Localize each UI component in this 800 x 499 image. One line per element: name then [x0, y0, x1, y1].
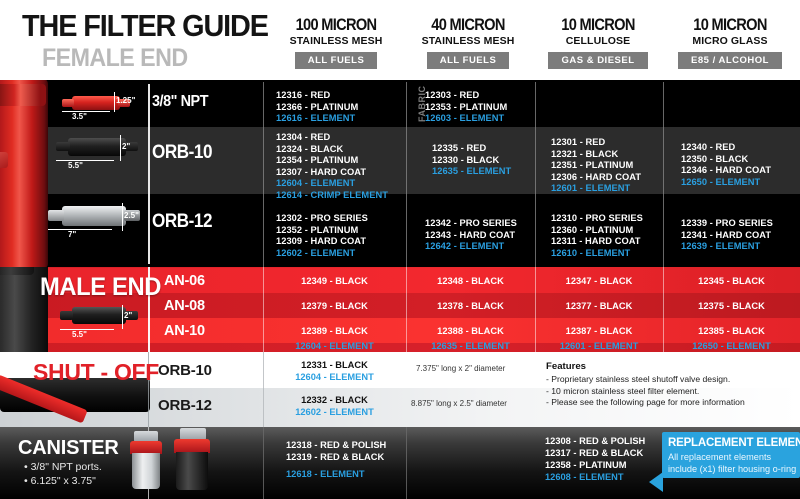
part-number-element: 12601 - ELEMENT: [551, 183, 641, 195]
part-number: 12348 - BLACK: [406, 276, 535, 286]
dimension-diameter: 1.25": [116, 96, 135, 105]
part-number: 12335 - RED: [432, 143, 511, 155]
part-number: 12330 - BLACK: [432, 155, 511, 167]
page-title: THE FILTER GUIDE: [22, 8, 268, 44]
part-list: 12310 - PRO SERIES 12360 - PLATINUM 1231…: [551, 213, 643, 259]
part-number: 12342 - PRO SERIES: [425, 218, 517, 230]
part-number: 12318 - RED & POLISH: [286, 439, 386, 451]
dimension-length: 5.5": [72, 330, 87, 339]
divider: [148, 84, 150, 264]
part-number: 12346 - HARD COAT: [681, 165, 771, 177]
dimension-line: [122, 305, 123, 329]
callout-line-1: All replacement elements: [668, 452, 794, 464]
column-fuel-tag: ALL FUELS: [295, 52, 378, 69]
part-number: 12321 - BLACK: [551, 149, 641, 161]
part-number-element: 12610 - ELEMENT: [551, 248, 643, 260]
part-number-element: 12650 - ELEMENT: [681, 177, 771, 189]
part-list: 12332 - BLACK 12602 - ELEMENT: [263, 395, 406, 418]
canister-specs: • 3/8" NPT ports. • 6.125" x 3.75": [24, 460, 102, 488]
section-title-male-end: MALE END: [40, 273, 161, 302]
part-number: 12375 - BLACK: [663, 301, 800, 311]
filter-guide-page: THE FILTER GUIDE FEMALE END 100 MICRON S…: [0, 0, 800, 499]
part-number-element: 12618 - ELEMENT: [286, 468, 386, 480]
column-micron-label: 10 MICRON: [542, 16, 654, 34]
part-number-element: 12635 - ELEMENT: [432, 166, 511, 178]
part-number-element: 12635 - ELEMENT: [406, 341, 535, 351]
features-heading: Features: [546, 361, 586, 372]
part-number: 12352 - PLATINUM: [276, 225, 368, 237]
dimension-line: [114, 92, 115, 112]
female-end-section: 3.5" 1.25" 3/8" NPT 12316 - RED 12366 - …: [0, 80, 800, 267]
canister-section: CANISTER • 3/8" NPT ports. • 6.125" x 3.…: [0, 427, 800, 499]
shut-off-section: SHUT - OFF ORB-10 ORB-12 12331 - BLACK 1…: [0, 352, 800, 427]
part-number-element: 12604 - ELEMENT: [263, 372, 406, 384]
shutoff-dimension-orb12: 8.875" long x 2.5" diameter: [411, 399, 507, 408]
part-number: 12307 - HARD COAT: [276, 167, 388, 179]
part-number: 12366 - PLATINUM: [276, 102, 358, 114]
replacement-elements-callout: REPLACEMENT ELEMENTS All replacement ele…: [662, 432, 800, 478]
part-number-element: 12601 - ELEMENT: [535, 341, 663, 351]
red-filter-housing-image: [0, 80, 48, 267]
feature-item: - 10 micron stainless steel filter eleme…: [546, 386, 745, 398]
part-number: 12308 - RED & POLISH: [545, 435, 645, 447]
feature-item: - Please see the following page for more…: [546, 397, 745, 409]
dimension-diameter: 2": [122, 142, 130, 151]
part-number-element: 12603 - ELEMENT: [425, 113, 507, 125]
male-end-section: MALE END 5.5" 2" AN-06 AN-08 AN-10 12349…: [0, 267, 800, 352]
part-number: 12351 - PLATINUM: [551, 160, 641, 172]
part-number: 12389 - BLACK: [263, 326, 406, 336]
column-micron-label: 10 MICRON: [672, 16, 787, 34]
part-list: 12308 - RED & POLISH 12317 - RED & BLACK…: [545, 435, 645, 483]
shutoff-dimension-orb10: 7.375" long x 2" diameter: [416, 364, 505, 373]
part-number: 12306 - HARD COAT: [551, 172, 641, 184]
part-number: 12353 - PLATINUM: [425, 102, 507, 114]
part-list: 12316 - RED 12366 - PLATINUM 12616 - ELE…: [276, 90, 358, 125]
divider: [263, 427, 264, 499]
dimension-line: [120, 135, 121, 161]
callout-heading: REPLACEMENT ELEMENTS: [668, 437, 794, 449]
column-header-40-micron: 40 MICRON STAINLESS MESH ALL FUELS: [404, 16, 532, 69]
part-number: 12358 - PLATINUM: [545, 459, 645, 471]
part-list: 12335 - RED 12330 - BLACK 12635 - ELEMEN…: [432, 143, 511, 178]
dimension-length: 7": [68, 230, 76, 239]
part-number: 12345 - BLACK: [663, 276, 800, 286]
part-list: 12304 - RED 12324 - BLACK 12354 - PLATIN…: [276, 132, 388, 202]
part-number: 12378 - BLACK: [406, 301, 535, 311]
part-number: 12319 - RED & BLACK: [286, 451, 386, 463]
divider: [406, 82, 407, 267]
size-label-an10: AN-10: [164, 323, 205, 339]
part-number: 12350 - BLACK: [681, 154, 771, 166]
column-fuel-tag: E85 / ALCOHOL: [678, 52, 782, 69]
part-number: 12379 - BLACK: [263, 301, 406, 311]
dimension-length: 5.5": [68, 161, 83, 170]
part-list: 12339 - PRO SERIES 12341 - HARD COAT 126…: [681, 218, 773, 253]
column-material-label: STAINLESS MESH: [404, 35, 532, 48]
row-label-orb12: ORB-12: [152, 211, 212, 233]
part-number-element: 12604 - ELEMENT: [263, 341, 406, 351]
dimension-length: 3.5": [72, 112, 87, 121]
part-list: 12318 - RED & POLISH 12319 - RED & BLACK…: [286, 439, 386, 480]
part-number: 12317 - RED & BLACK: [545, 447, 645, 459]
canister-image-black: [172, 428, 212, 490]
callout-line-2: include (x1) filter housing o-ring: [668, 464, 794, 476]
part-number-element: 12650 - ELEMENT: [663, 341, 800, 351]
column-material-label: STAINLESS MESH: [272, 35, 400, 48]
dimension-diameter: 2": [124, 311, 132, 320]
part-number: 12332 - BLACK: [263, 395, 406, 407]
column-header-10-micron-cellulose: 10 MICRON CELLULOSE GAS & DIESEL: [533, 16, 663, 69]
part-number: 12340 - RED: [681, 142, 771, 154]
dimension-line: [48, 229, 112, 230]
part-number-element: 12602 - ELEMENT: [263, 407, 406, 419]
part-number-element: 12614 - CRIMP ELEMENT: [276, 190, 388, 202]
divider: [663, 82, 664, 267]
part-number: 12339 - PRO SERIES: [681, 218, 773, 230]
part-number: 12310 - PRO SERIES: [551, 213, 643, 225]
size-label-an08: AN-08: [164, 298, 205, 314]
part-number-element: 12642 - ELEMENT: [425, 241, 517, 253]
row-label-orb10: ORB-10: [152, 142, 212, 164]
part-number: 12341 - HARD COAT: [681, 230, 773, 242]
part-number: 12377 - BLACK: [535, 301, 663, 311]
part-number: 12347 - BLACK: [535, 276, 663, 286]
part-number: 12385 - BLACK: [663, 326, 800, 336]
column-material-label: MICRO GLASS: [663, 35, 797, 48]
column-fuel-tag: GAS & DIESEL: [548, 52, 647, 69]
section-title-canister: CANISTER: [18, 437, 119, 460]
column-micron-label: 100 MICRON: [281, 16, 391, 34]
callout-tail: [649, 472, 663, 492]
part-list: 12303 - RED 12353 - PLATINUM 12603 - ELE…: [425, 90, 507, 125]
column-fuel-tag: ALL FUELS: [427, 52, 510, 69]
part-number-element: 12604 - ELEMENT: [276, 178, 388, 190]
section-subtitle-female-end: FEMALE END: [42, 44, 188, 73]
canister-spec-item: • 3/8" NPT ports.: [24, 460, 102, 474]
size-label-an06: AN-06: [164, 273, 205, 289]
dimension-line: [122, 203, 123, 231]
dimension-line: [56, 160, 114, 161]
part-number: 12303 - RED: [425, 90, 507, 102]
column-header-10-micron-micro-glass: 10 MICRON MICRO GLASS E85 / ALCOHOL: [663, 16, 797, 69]
part-number-element: 12639 - ELEMENT: [681, 241, 773, 253]
part-number: 12316 - RED: [276, 90, 358, 102]
canister-spec-item: • 6.125" x 3.75": [24, 474, 102, 488]
part-number: 12388 - BLACK: [406, 326, 535, 336]
part-number: 12311 - HARD COAT: [551, 236, 643, 248]
column-material-label: CELLULOSE: [533, 35, 663, 48]
part-number-element: 12616 - ELEMENT: [276, 113, 358, 125]
column-micron-label: 40 MICRON: [413, 16, 523, 34]
divider: [263, 82, 264, 267]
features-list: - Proprietary stainless steel shutoff va…: [546, 374, 745, 409]
row-label-shutoff-orb10: ORB-10: [158, 362, 212, 379]
part-number: 12324 - BLACK: [276, 144, 388, 156]
part-number: 12354 - PLATINUM: [276, 155, 388, 167]
part-number: 12309 - HARD COAT: [276, 236, 368, 248]
column-header-100-micron: 100 MICRON STAINLESS MESH ALL FUELS: [272, 16, 400, 69]
dimension-line: [60, 329, 114, 330]
divider: [406, 427, 407, 499]
part-number: 12331 - BLACK: [263, 360, 406, 372]
part-number: 12349 - BLACK: [263, 276, 406, 286]
part-list: 12331 - BLACK 12604 - ELEMENT: [263, 360, 406, 383]
part-number: 12304 - RED: [276, 132, 388, 144]
row-label-shutoff-orb12: ORB-12: [158, 397, 212, 414]
canister-image-polish: [128, 431, 164, 489]
part-number-element: 12608 - ELEMENT: [545, 471, 645, 483]
header: THE FILTER GUIDE FEMALE END 100 MICRON S…: [0, 0, 800, 80]
part-number: 12343 - HARD COAT: [425, 230, 517, 242]
part-list: 12302 - PRO SERIES 12352 - PLATINUM 1230…: [276, 213, 368, 259]
section-title-shut-off: SHUT - OFF: [33, 359, 159, 386]
divider: [535, 82, 536, 267]
feature-item: - Proprietary stainless steel shutoff va…: [546, 374, 745, 386]
part-number: 12360 - PLATINUM: [551, 225, 643, 237]
part-number: 12387 - BLACK: [535, 326, 663, 336]
part-list: 12342 - PRO SERIES 12343 - HARD COAT 126…: [425, 218, 517, 253]
dimension-diameter: 2.5": [124, 211, 139, 220]
part-number: 12301 - RED: [551, 137, 641, 149]
part-list: 12340 - RED 12350 - BLACK 12346 - HARD C…: [681, 142, 771, 188]
part-list: 12301 - RED 12321 - BLACK 12351 - PLATIN…: [551, 137, 641, 195]
part-number-element: 12602 - ELEMENT: [276, 248, 368, 260]
part-number: 12302 - PRO SERIES: [276, 213, 368, 225]
row-label-npt: 3/8" NPT: [152, 93, 208, 111]
